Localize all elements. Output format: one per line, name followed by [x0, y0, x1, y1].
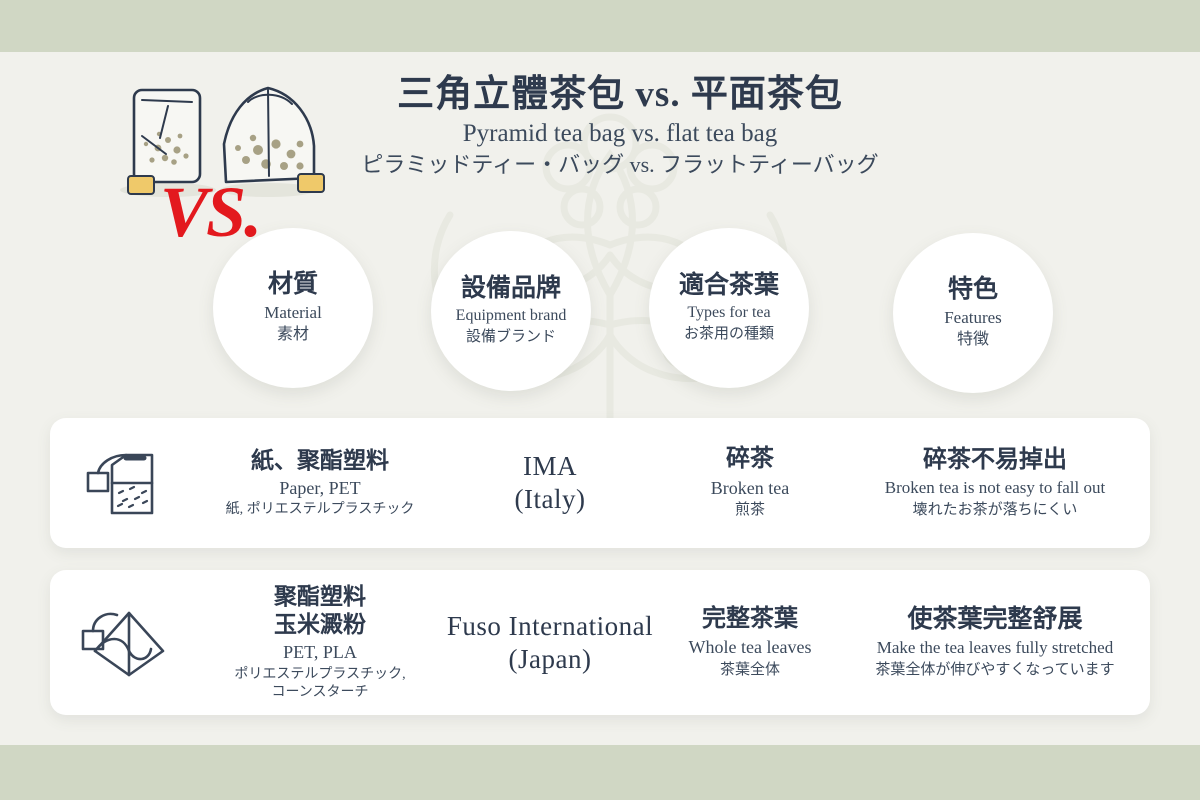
- category-label-en: Types for tea: [687, 303, 770, 324]
- title-block: 三角立體茶包 vs. 平面茶包 Pyramid tea bag vs. flat…: [340, 74, 900, 179]
- material-cell: 紙、聚酯塑料 Paper, PET 紙, ポリエステルプラスチック: [200, 447, 440, 520]
- material-ja: 紙, ポリエステルプラスチック: [226, 501, 415, 519]
- header: VS. 三角立體茶包 vs. 平面茶包 Pyramid tea bag vs. …: [0, 58, 1200, 198]
- category-label-ja: お茶用の種類: [684, 325, 774, 345]
- page-title-ja: ピラミッドティー・バッグ vs. フラットティーバッグ: [340, 152, 900, 178]
- pyramid-tea-bag-icon: [77, 601, 173, 685]
- material-en: Paper, PET: [279, 477, 360, 500]
- material-en: PET, PLA: [283, 641, 357, 664]
- brand-country: (Italy): [515, 483, 586, 516]
- types-zh: 完整茶葉: [702, 605, 798, 634]
- types-en: Broken tea: [711, 477, 789, 500]
- flat-tea-bag-icon: [82, 443, 168, 523]
- category-circles: 材質 Material 素材 設備品牌 Equipment brand 設備ブラ…: [0, 228, 1200, 393]
- category-label-ja: 素材: [277, 325, 309, 346]
- table-row: 紙、聚酯塑料 Paper, PET 紙, ポリエステルプラスチック IMA (I…: [50, 418, 1150, 548]
- features-cell: 碎茶不易掉出 Broken tea is not easy to fall ou…: [840, 446, 1150, 520]
- material-zh: 聚酯塑料 玉米澱粉: [274, 583, 366, 639]
- page-title-en: Pyramid tea bag vs. flat tea bag: [340, 120, 900, 149]
- features-en: Broken tea is not easy to fall out: [885, 477, 1105, 498]
- category-label-ja: 特徴: [957, 330, 989, 351]
- row-icon-cell: [50, 443, 200, 523]
- features-cell: 使茶葉完整舒展 Make the tea leaves fully stretc…: [840, 605, 1150, 680]
- category-label-zh: 特色: [948, 275, 998, 305]
- brand-country: (Japan): [509, 643, 592, 676]
- category-label-en: Material: [264, 302, 322, 324]
- material-zh: 紙、聚酯塑料: [251, 447, 389, 475]
- category-label-en: Features: [944, 307, 1002, 329]
- table-row: 聚酯塑料 玉米澱粉 PET, PLA ポリエステルプラスチック, コーンスターチ…: [50, 570, 1150, 715]
- brand-cell: Fuso International (Japan): [440, 610, 660, 676]
- features-ja: 茶葉全体が伸びやすくなっています: [875, 661, 1114, 681]
- material-cell: 聚酯塑料 玉米澱粉 PET, PLA ポリエステルプラスチック, コーンスターチ: [200, 583, 440, 702]
- brand-cell: IMA (Italy): [440, 450, 660, 516]
- category-circle-material: 材質 Material 素材: [213, 228, 373, 388]
- features-zh: 碎茶不易掉出: [923, 446, 1067, 475]
- types-zh: 碎茶: [726, 445, 774, 474]
- top-color-band: [0, 0, 1200, 52]
- features-zh: 使茶葉完整舒展: [907, 605, 1082, 636]
- material-ja: ポリエステルプラスチック, コーンスターチ: [234, 666, 405, 702]
- features-en: Make the tea leaves fully stretched: [877, 637, 1113, 658]
- types-ja: 茶葉全体: [720, 661, 780, 681]
- category-label-zh: 適合茶葉: [679, 271, 779, 301]
- brand-name: Fuso International: [447, 610, 653, 643]
- infographic-canvas: VS. 三角立體茶包 vs. 平面茶包 Pyramid tea bag vs. …: [0, 0, 1200, 800]
- types-en: Whole tea leaves: [689, 636, 812, 659]
- category-circle-features: 特色 Features 特徴: [893, 233, 1053, 393]
- row-icon-cell: [50, 601, 200, 685]
- category-circle-equipment-brand: 設備品牌 Equipment brand 設備ブランド: [431, 231, 591, 391]
- bottom-color-band: [0, 745, 1200, 800]
- category-label-en: Equipment brand: [456, 306, 567, 327]
- types-ja: 煎茶: [735, 501, 765, 521]
- category-label-zh: 材質: [268, 270, 318, 300]
- category-label-zh: 設備品牌: [461, 274, 561, 304]
- types-cell: 完整茶葉 Whole tea leaves 茶葉全体: [660, 605, 840, 680]
- category-label-ja: 設備ブランド: [466, 328, 556, 348]
- page-title-zh: 三角立體茶包 vs. 平面茶包: [340, 74, 900, 117]
- brand-name: IMA: [523, 450, 577, 483]
- category-circle-types-for-tea: 適合茶葉 Types for tea お茶用の種類: [649, 228, 809, 388]
- types-cell: 碎茶 Broken tea 煎茶: [660, 445, 840, 520]
- features-ja: 壊れたお茶が落ちにくい: [913, 501, 1078, 521]
